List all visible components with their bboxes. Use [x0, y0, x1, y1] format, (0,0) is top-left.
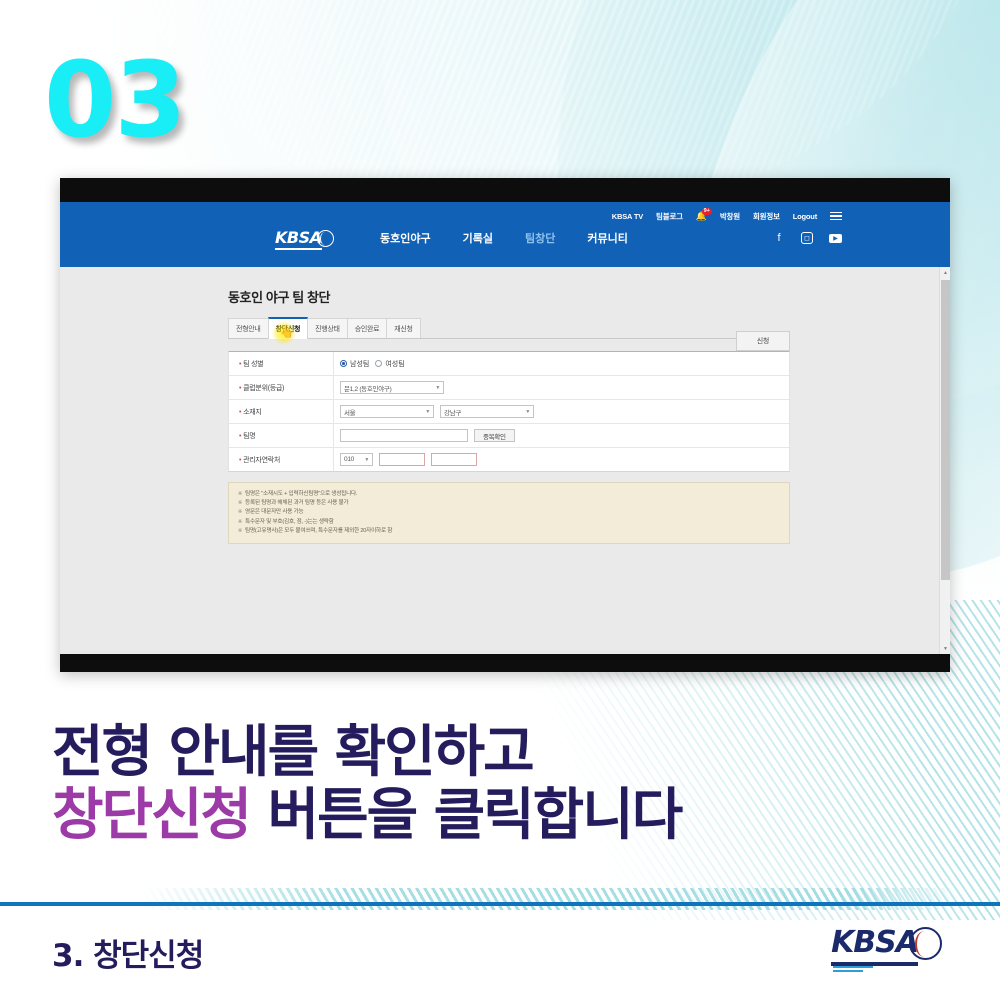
facebook-icon[interactable]: f: [773, 232, 785, 244]
main-nav-item-records[interactable]: 기록실: [463, 230, 493, 246]
page-body: 동호인 야구 팀 창단 전형안내 창단신청 진행상태 승인완료 재신청 👆 신청…: [60, 267, 950, 654]
notice-box: ※ 팀명은 "소재시도 + 입력하신팀명"으로 생성됩니다. ※ 등록된 팀명과…: [228, 482, 790, 544]
utility-nav-item-kbsa-tv[interactable]: KBSA TV: [612, 212, 643, 221]
required-marker: •: [239, 409, 241, 416]
footer-logo-text: KBSA: [831, 925, 918, 966]
form-field-team-gender: 남성팀 여성팀: [333, 352, 789, 375]
utility-nav: KBSA TV 팀블로그 🔔 9+ 박창원 회원정보 Logout: [612, 210, 842, 222]
radio-female-team[interactable]: 여성팀: [375, 359, 404, 369]
scroll-down-arrow-icon[interactable]: ▼: [940, 643, 950, 654]
baseball-icon: [317, 230, 334, 247]
select-phone-prefix-value: 010: [344, 456, 354, 463]
caption-highlight: 창단신청: [52, 783, 250, 848]
form-label-team-gender: •팀 성별: [229, 359, 333, 369]
notification-badge: 9+: [702, 208, 712, 215]
required-marker: •: [239, 457, 241, 464]
radio-male-label: 남성팀: [350, 359, 369, 369]
footer-logo-underlines: [833, 964, 873, 972]
form-row-team-gender: •팀 성별 남성팀 여성팀: [229, 352, 789, 376]
caption-line-1: 전형 안내를 확인하고: [52, 722, 681, 785]
required-marker: •: [239, 361, 241, 368]
duplicate-check-button[interactable]: 중복확인: [474, 429, 515, 442]
bullet-icon: ※: [238, 508, 242, 517]
form-field-location: 서울 ▼ 강남구 ▼: [333, 400, 789, 423]
caption-line-2: 창단신청 버튼을 클릭합니다: [52, 785, 681, 848]
tab-bar: 전형안내 창단신청 진행상태 승인완료 재신청 👆 신청: [228, 317, 790, 339]
background-diagonal-stripes-footer: [140, 888, 960, 910]
notice-text: 팀명(고유명사)은 모두 붙여쓰며, 특수문자를 제외한 20자이하로 함: [245, 527, 392, 536]
form-field-team-name: 중복확인: [333, 424, 789, 447]
utility-nav-item-logout[interactable]: Logout: [793, 212, 817, 221]
tab-admission-guide[interactable]: 전형안내: [228, 318, 269, 338]
footer-baseball-icon: [909, 927, 942, 960]
content-card: 동호인 야구 팀 창단 전형안내 창단신청 진행상태 승인완료 재신청 👆 신청…: [228, 287, 790, 544]
notice-text: 등록된 팀명과 해체된 과거 팀명 등은 사용 불가: [245, 499, 348, 508]
main-nav-item-community[interactable]: 커뮤니티: [587, 230, 627, 246]
select-club-grade-value: 문1,2 (동호인야구): [344, 383, 391, 393]
select-phone-prefix[interactable]: 010 ▼: [340, 453, 373, 466]
notice-text: 특수문자 및 부호(김호, 점, -)는는 생략함: [245, 518, 334, 527]
screenshot-top-letterbox: [60, 178, 950, 202]
form-row-location: •소재지 서울 ▼ 강남구 ▼: [229, 400, 789, 424]
bullet-icon: ※: [238, 499, 242, 508]
step-number: 03: [44, 48, 185, 152]
required-marker: •: [239, 385, 241, 392]
notice-line: ※ 팀명은 "소재시도 + 입력하신팀명"으로 생성됩니다.: [238, 490, 780, 499]
form-row-team-name: •팀명 중복확인: [229, 424, 789, 448]
page-scrollbar[interactable]: ▲ ▼: [939, 267, 950, 654]
chevron-down-icon: ▼: [364, 457, 369, 463]
youtube-icon[interactable]: ▶: [829, 234, 842, 243]
tab-reapply[interactable]: 재신청: [386, 318, 420, 338]
chevron-down-icon: ▼: [525, 409, 530, 415]
form-field-admin-phone: 010 ▼: [333, 448, 789, 471]
apply-button[interactable]: 신청: [736, 331, 790, 351]
hamburger-menu-icon[interactable]: [830, 212, 842, 221]
required-marker: •: [239, 433, 241, 440]
chevron-down-icon: ▼: [425, 409, 430, 415]
bullet-icon: ※: [238, 527, 242, 536]
main-nav-item-team-founding[interactable]: 팀창단: [525, 230, 555, 246]
form-label-location: •소재지: [229, 407, 333, 417]
utility-nav-item-username[interactable]: 박창원: [720, 211, 740, 222]
notification-bell-icon[interactable]: 🔔 9+: [696, 210, 707, 222]
notice-line: ※ 등록된 팀명과 해체된 과거 팀명 등은 사용 불가: [238, 499, 780, 508]
notice-line: ※ 팀명(고유명사)은 모두 붙여쓰며, 특수문자를 제외한 20자이하로 함: [238, 527, 780, 536]
select-sido-value: 서울: [344, 407, 355, 417]
select-club-grade[interactable]: 문1,2 (동호인야구) ▼: [340, 381, 444, 394]
footer-divider: [0, 902, 1000, 906]
caption-line-2-rest: 버튼을 클릭합니다: [250, 783, 681, 848]
tab-progress-status[interactable]: 진행상태: [307, 318, 348, 338]
notice-line: ※ 영문은 대문자만 사용 가능: [238, 508, 780, 517]
select-gugun[interactable]: 강남구 ▼: [440, 405, 534, 418]
kbsa-logo[interactable]: KBSA: [275, 228, 334, 250]
founding-form: •팀 성별 남성팀 여성팀 •: [228, 351, 790, 472]
social-icons: f ◻ ▶: [773, 232, 842, 244]
team-name-input[interactable]: [340, 429, 468, 442]
mouse-pointer-icon: 👆: [280, 328, 294, 339]
form-label-team-name: •팀명: [229, 431, 333, 441]
form-label-admin-phone: •관리자연락처: [229, 455, 333, 465]
caption-block: 전형 안내를 확인하고 창단신청 버튼을 클릭합니다: [52, 722, 681, 847]
form-row-club-grade: •클럽분위(등급) 문1,2 (동호인야구) ▼: [229, 376, 789, 400]
form-label-club-grade: •클럽분위(등급): [229, 383, 333, 393]
chevron-down-icon: ▼: [435, 385, 440, 391]
form-field-club-grade: 문1,2 (동호인야구) ▼: [333, 376, 789, 399]
footer-title: 3. 창단신청: [52, 930, 203, 975]
phone-last-input[interactable]: [431, 453, 477, 466]
utility-nav-item-team-blog[interactable]: 팀블로그: [656, 211, 683, 222]
radio-female-input[interactable]: [375, 360, 382, 367]
radio-male-input[interactable]: [340, 360, 347, 367]
select-gugun-value: 강남구: [444, 407, 461, 417]
notice-text: 영문은 대문자만 사용 가능: [245, 508, 303, 517]
notice-text: 팀명은 "소재시도 + 입력하신팀명"으로 생성됩니다.: [245, 490, 357, 499]
instagram-icon[interactable]: ◻: [801, 232, 813, 244]
bullet-icon: ※: [238, 518, 242, 527]
footer-kbsa-logo: KBSA: [831, 925, 942, 966]
kbsa-logo-text: KBSA: [275, 228, 322, 250]
phone-middle-input[interactable]: [379, 453, 425, 466]
page-title: 동호인 야구 팀 창단: [228, 287, 790, 306]
scrollbar-thumb[interactable]: [941, 280, 950, 580]
tab-approved[interactable]: 승인완료: [347, 318, 388, 338]
radio-female-label: 여성팀: [385, 359, 404, 369]
main-nav-item-donghoin[interactable]: 동호인야구: [380, 230, 431, 246]
utility-nav-item-member-info[interactable]: 회원정보: [753, 211, 780, 222]
notice-line: ※ 특수문자 및 부호(김호, 점, -)는는 생략함: [238, 518, 780, 527]
main-nav: 동호인야구 기록실 팀창단 커뮤니티: [380, 230, 628, 246]
site-header: KBSA TV 팀블로그 🔔 9+ 박창원 회원정보 Logout KBSA 동…: [60, 202, 950, 267]
select-sido[interactable]: 서울 ▼: [340, 405, 434, 418]
form-row-admin-phone: •관리자연락처 010 ▼: [229, 448, 789, 471]
scroll-up-arrow-icon[interactable]: ▲: [940, 267, 950, 278]
browser-screenshot: KBSA TV 팀블로그 🔔 9+ 박창원 회원정보 Logout KBSA 동…: [60, 178, 950, 672]
bullet-icon: ※: [238, 490, 242, 499]
radio-male-team[interactable]: 남성팀: [340, 359, 369, 369]
screenshot-bottom-letterbox: [60, 654, 950, 672]
